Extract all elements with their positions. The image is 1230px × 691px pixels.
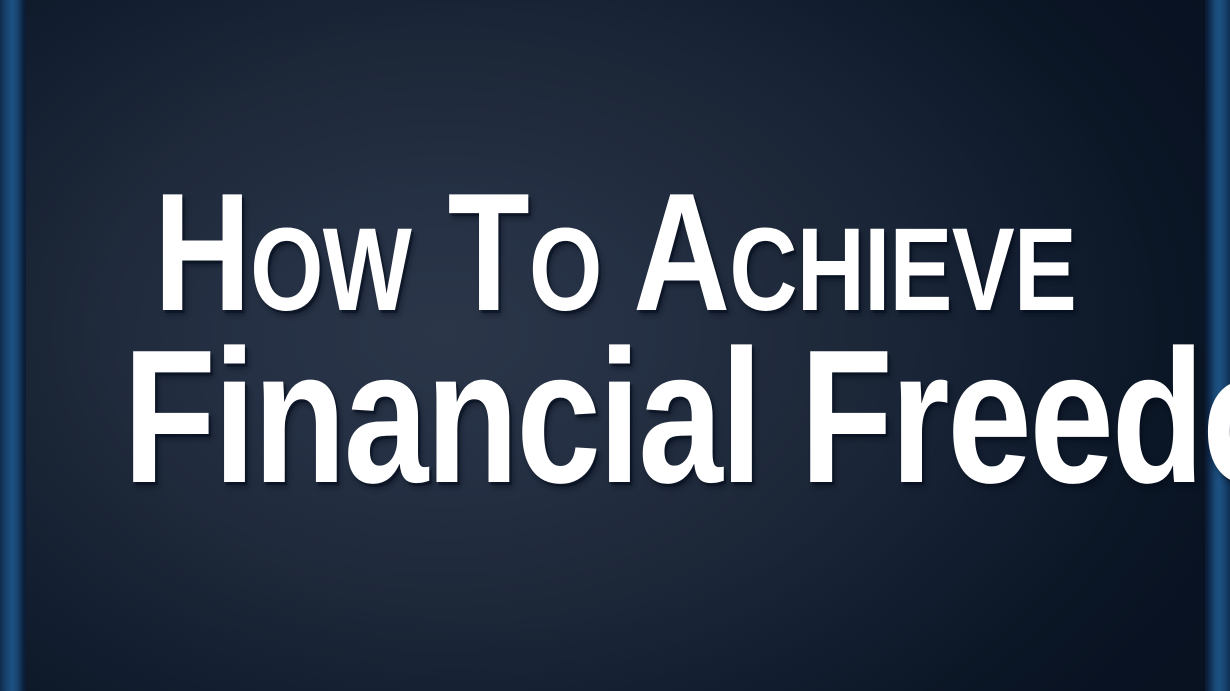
headline-line-2: Financial Freedom bbox=[123, 322, 1107, 512]
headline-block: How To Achieve Financial Freedom bbox=[0, 168, 1230, 512]
title-card: How To Achieve Financial Freedom bbox=[0, 0, 1230, 691]
